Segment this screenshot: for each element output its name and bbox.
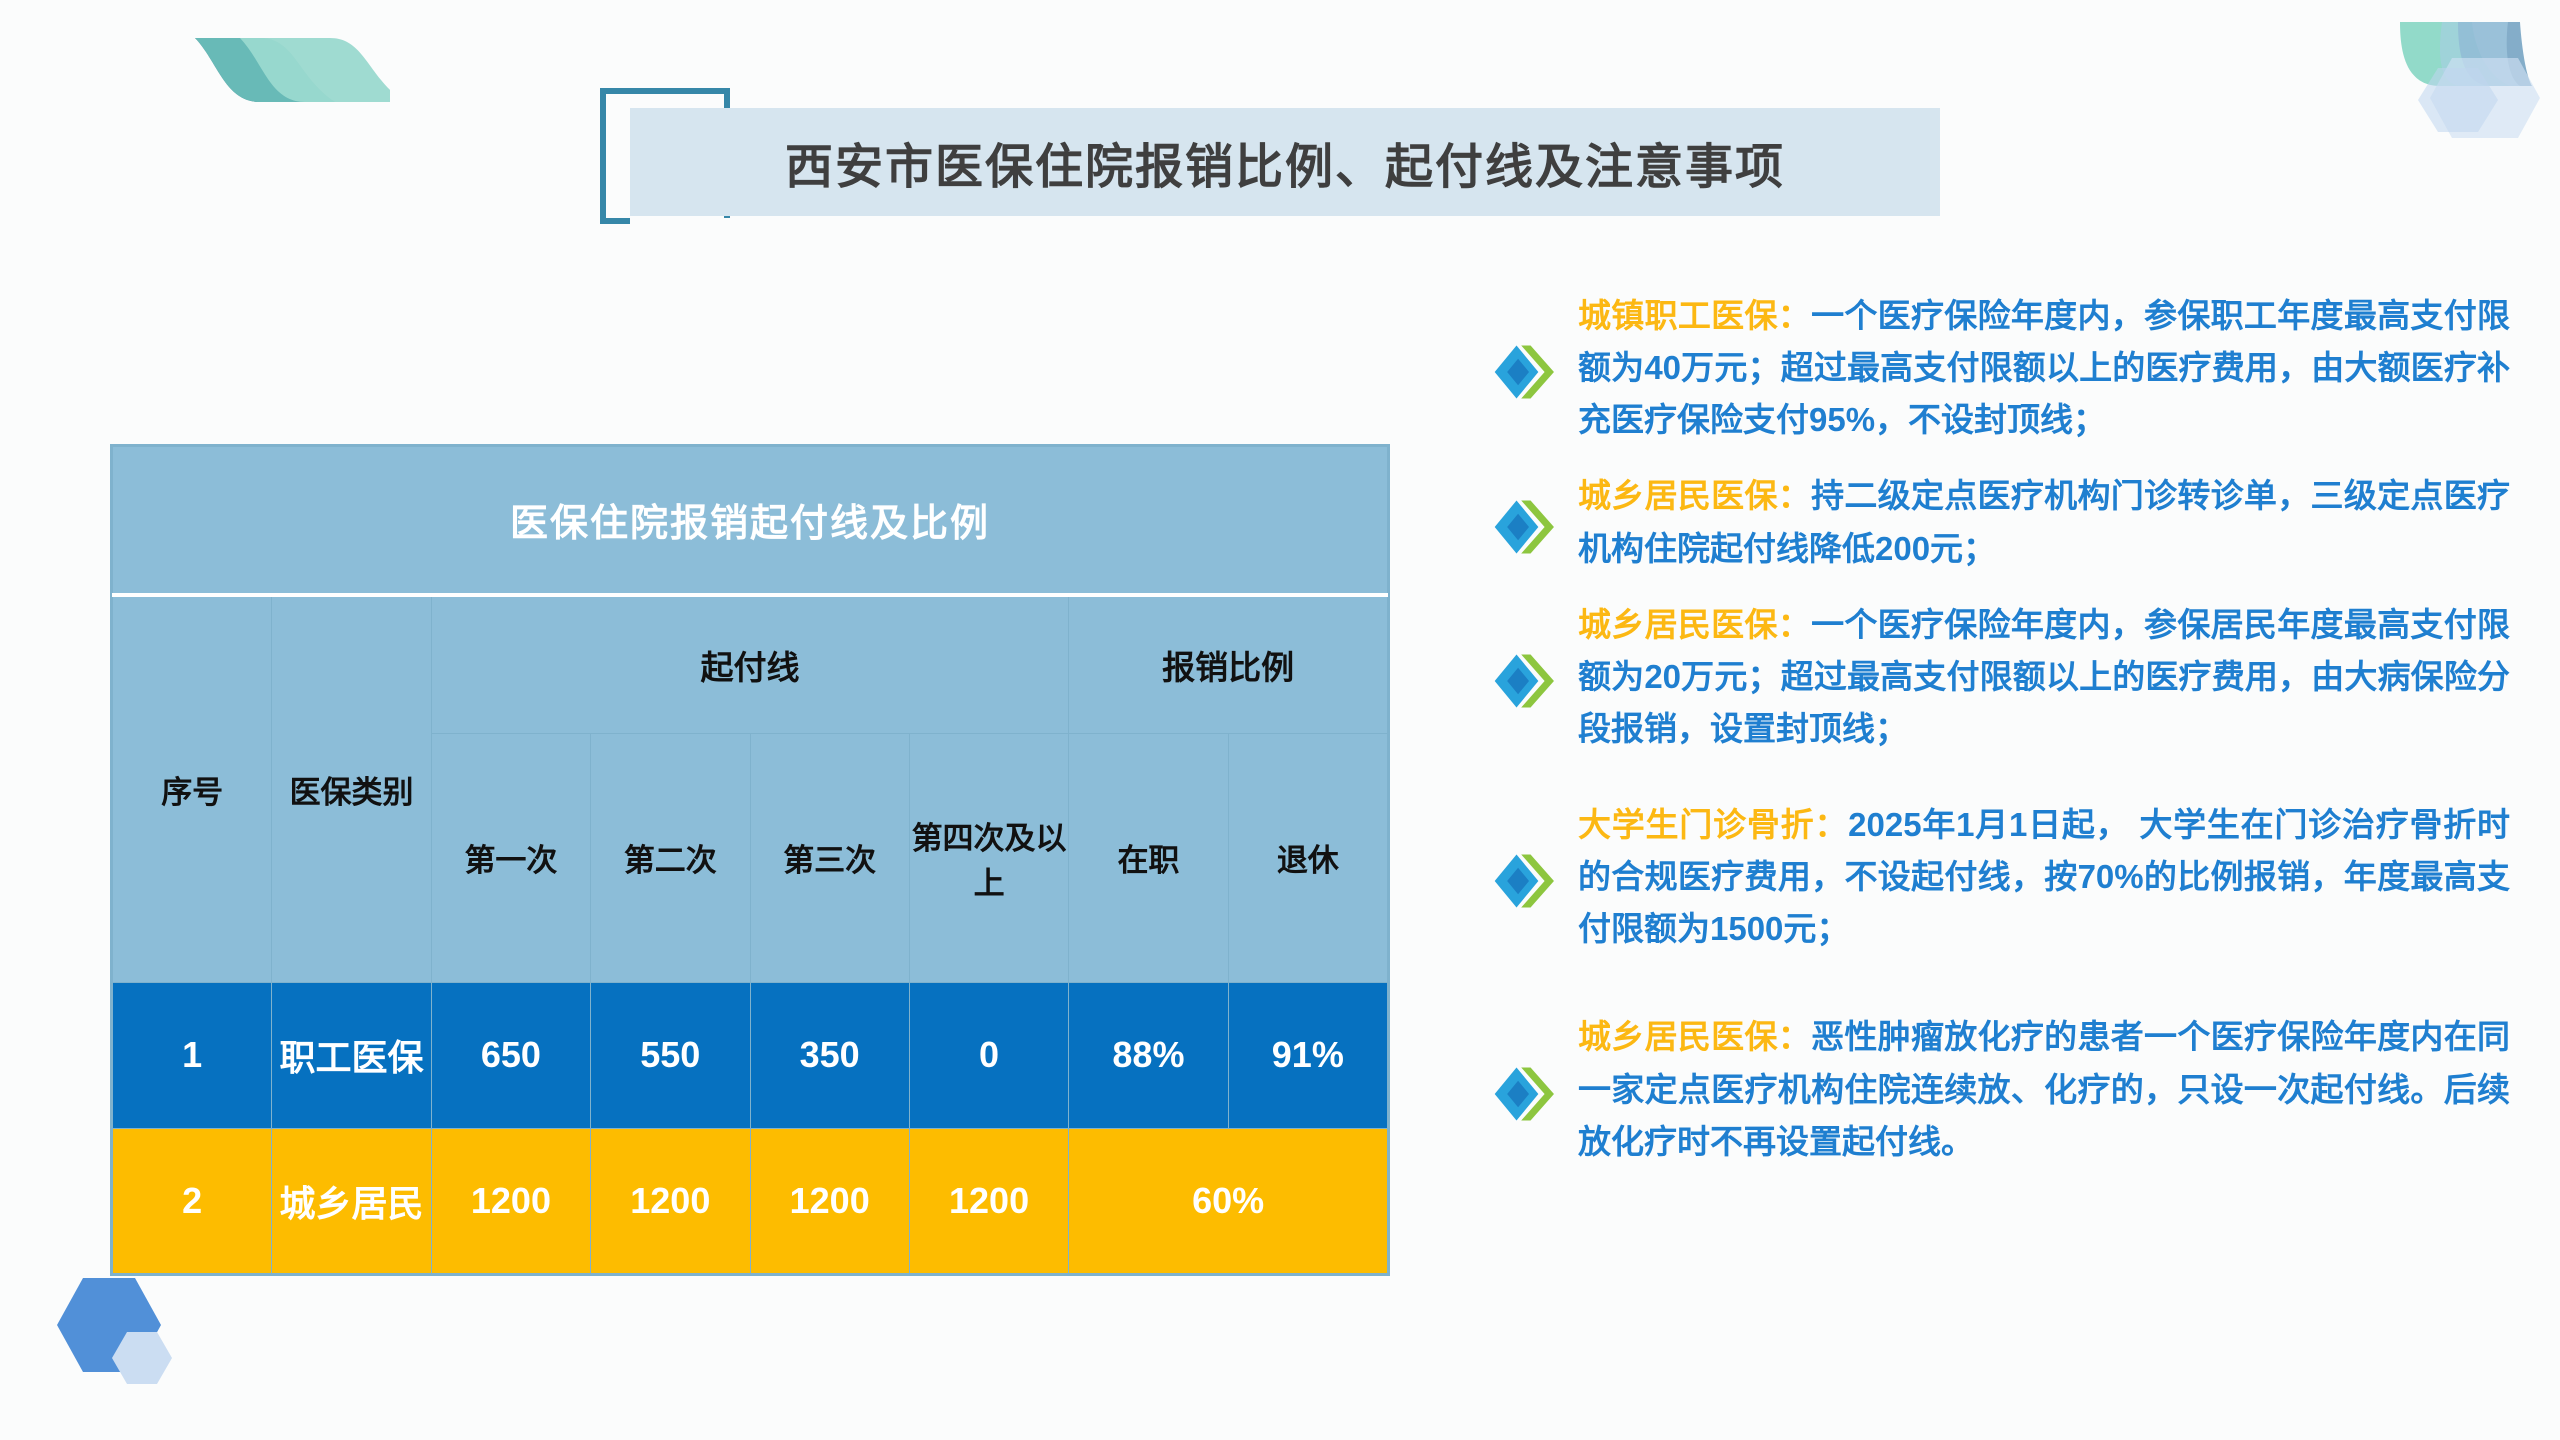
note-text: 城乡居民医保：恶性肿瘤放化疗的患者一个医疗保险年度内在同一家定点医疗机构住院连续… <box>1578 1011 2510 1167</box>
header-visit-1: 第一次 <box>431 733 590 983</box>
cell-deductible-4: 1200 <box>909 1128 1068 1273</box>
cell-deductible-2: 550 <box>591 983 750 1128</box>
table-row: 1 职工医保 650 550 350 0 88% 91% <box>113 983 1388 1128</box>
header-category: 医保类别 <box>272 595 431 983</box>
double-chevron-icon <box>1490 642 1568 720</box>
top-right-ribbon-hexagon-decoration <box>2380 0 2560 140</box>
note-lead: 城镇职工医保： <box>1578 297 1811 334</box>
table-row: 2 城乡居民 1200 1200 1200 1200 60% <box>113 1128 1388 1273</box>
reimbursement-table-container: 医保住院报销起付线及比例 序号 医保类别 起付线 报销比例 第一次 第二次 第三… <box>110 444 1390 1276</box>
reimbursement-table: 医保住院报销起付线及比例 序号 医保类别 起付线 报销比例 第一次 第二次 第三… <box>112 446 1388 1274</box>
double-chevron-icon <box>1490 333 1568 411</box>
top-left-ribbon-decoration <box>60 20 390 120</box>
header-visit-3: 第三次 <box>750 733 909 983</box>
table-caption-row: 医保住院报销起付线及比例 <box>113 447 1388 595</box>
list-item: 城乡居民医保：一个医疗保险年度内，参保居民年度最高支付限额为20万元；超过最高支… <box>1490 599 2510 755</box>
cell-deductible-4: 0 <box>909 983 1068 1128</box>
header-ratio-working: 在职 <box>1069 733 1228 983</box>
cell-ratio-retired: 91% <box>1228 983 1387 1128</box>
list-item: 大学生门诊骨折：2025年1月1日起， 大学生在门诊治疗骨折时的合规医疗费用，不… <box>1490 799 2510 955</box>
note-text: 城乡居民医保：持二级定点医疗机构门诊转诊单，三级定点医疗机构住院起付线降低200… <box>1578 470 2510 574</box>
note-lead: 城乡居民医保： <box>1578 477 1811 514</box>
header-visit-2: 第二次 <box>591 733 750 983</box>
cell-category: 职工医保 <box>272 983 431 1128</box>
cell-ratio-working: 88% <box>1069 983 1228 1128</box>
table-header-row-top: 序号 医保类别 起付线 报销比例 <box>113 595 1388 734</box>
header-deductible-group: 起付线 <box>431 595 1069 734</box>
slide-canvas: 西安市医保住院报销比例、起付线及注意事项 医保住院报销起付线及比例 序号 医保类… <box>0 0 2560 1440</box>
cell-category: 城乡居民 <box>272 1128 431 1273</box>
cell-index: 2 <box>113 1128 272 1273</box>
note-text: 城镇职工医保：一个医疗保险年度内，参保职工年度最高支付限额为40万元；超过最高支… <box>1578 290 2510 446</box>
cell-ratio-merged: 60% <box>1069 1128 1388 1273</box>
table-caption: 医保住院报销起付线及比例 <box>113 447 1388 595</box>
list-item: 城镇职工医保：一个医疗保险年度内，参保职工年度最高支付限额为40万元；超过最高支… <box>1490 290 2510 446</box>
page-title: 西安市医保住院报销比例、起付线及注意事项 <box>630 108 1940 216</box>
list-item: 城乡居民医保：持二级定点医疗机构门诊转诊单，三级定点医疗机构住院起付线降低200… <box>1490 470 2510 574</box>
cell-index: 1 <box>113 983 272 1128</box>
cell-deductible-1: 650 <box>431 983 590 1128</box>
bottom-left-hexagon-decoration <box>35 1270 235 1420</box>
header-index: 序号 <box>113 595 272 983</box>
double-chevron-icon <box>1490 842 1568 920</box>
note-lead: 大学生门诊骨折： <box>1578 806 1848 843</box>
header-visit-4: 第四次及以上 <box>909 733 1068 983</box>
double-chevron-icon <box>1490 1055 1568 1133</box>
double-chevron-icon <box>1490 488 1568 566</box>
note-lead: 城乡居民医保： <box>1578 606 1811 643</box>
note-text: 大学生门诊骨折：2025年1月1日起， 大学生在门诊治疗骨折时的合规医疗费用，不… <box>1578 799 2510 955</box>
notes-list: 城镇职工医保：一个医疗保险年度内，参保职工年度最高支付限额为40万元；超过最高支… <box>1490 290 2510 1192</box>
note-lead: 城乡居民医保： <box>1578 1018 1811 1055</box>
note-text: 城乡居民医保：一个医疗保险年度内，参保居民年度最高支付限额为20万元；超过最高支… <box>1578 599 2510 755</box>
cell-deductible-1: 1200 <box>431 1128 590 1273</box>
cell-deductible-3: 1200 <box>750 1128 909 1273</box>
header-ratio-group: 报销比例 <box>1069 595 1388 734</box>
cell-deductible-2: 1200 <box>591 1128 750 1273</box>
cell-deductible-3: 350 <box>750 983 909 1128</box>
list-item: 城乡居民医保：恶性肿瘤放化疗的患者一个医疗保险年度内在同一家定点医疗机构住院连续… <box>1490 1011 2510 1167</box>
header-ratio-retired: 退休 <box>1228 733 1387 983</box>
